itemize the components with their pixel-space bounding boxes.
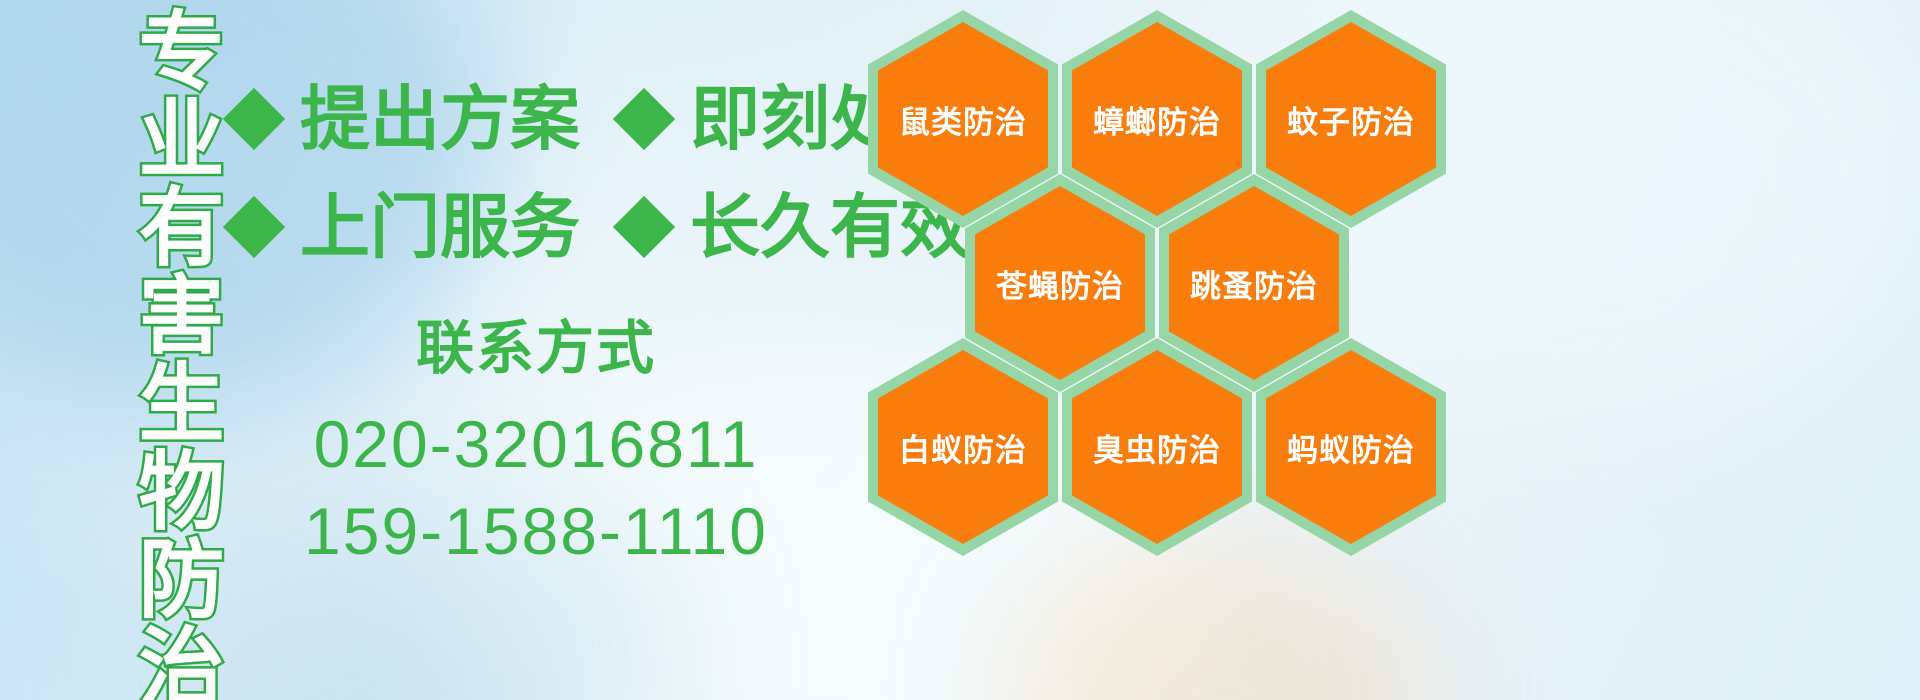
contact-phone-landline[interactable]: 020-32016811 — [236, 401, 836, 488]
hex-service-bedbug[interactable]: 臭虫防治 — [1062, 338, 1252, 556]
feature-row-2: 上门服务 长久有效 — [232, 192, 970, 262]
feature-item-door-to-door-service: 上门服务 — [232, 192, 622, 262]
hex-service-ant[interactable]: 蚂蚁防治 — [1256, 338, 1446, 556]
pest-control-banner: 专业有害生物防治服务 提出方案 即刻处理 上门服务 长久有效 联系方式 020-… — [0, 0, 1920, 700]
background-blob — [240, 600, 500, 700]
hex-label: 蟑螂防治 — [1093, 97, 1221, 142]
diamond-icon — [613, 88, 675, 150]
feature-label: 提出方案 — [300, 84, 580, 154]
diamond-icon — [223, 196, 285, 258]
hex-label: 臭虫防治 — [1093, 425, 1221, 470]
hex-label: 白蚁防治 — [899, 425, 1027, 470]
hex-label: 鼠类防治 — [899, 97, 1027, 142]
diamond-icon — [223, 88, 285, 150]
background-blob — [1010, 540, 1440, 700]
feature-item-propose-plan: 提出方案 — [232, 84, 622, 154]
hex-label: 跳蚤防治 — [1190, 261, 1318, 306]
service-honeycomb: 鼠类防治 蟑螂防治 蚊子防治 苍蝇防治 跳蚤防治 — [866, 4, 1466, 564]
feature-label: 上门服务 — [300, 192, 580, 262]
hex-service-termite[interactable]: 白蚁防治 — [868, 338, 1058, 556]
diamond-icon — [613, 196, 675, 258]
contact-phone-mobile[interactable]: 159-1588-1110 — [236, 488, 836, 575]
vertical-headline: 专业有害生物防治服务 — [104, 6, 216, 700]
hex-label: 蚂蚁防治 — [1287, 425, 1415, 470]
feature-row-1: 提出方案 即刻处理 — [232, 84, 970, 154]
hex-label: 蚊子防治 — [1287, 97, 1415, 142]
contact-title: 联系方式 — [236, 312, 836, 385]
contact-block: 联系方式 020-32016811 159-1588-1110 — [236, 312, 836, 575]
hex-label: 苍蝇防治 — [996, 261, 1124, 306]
